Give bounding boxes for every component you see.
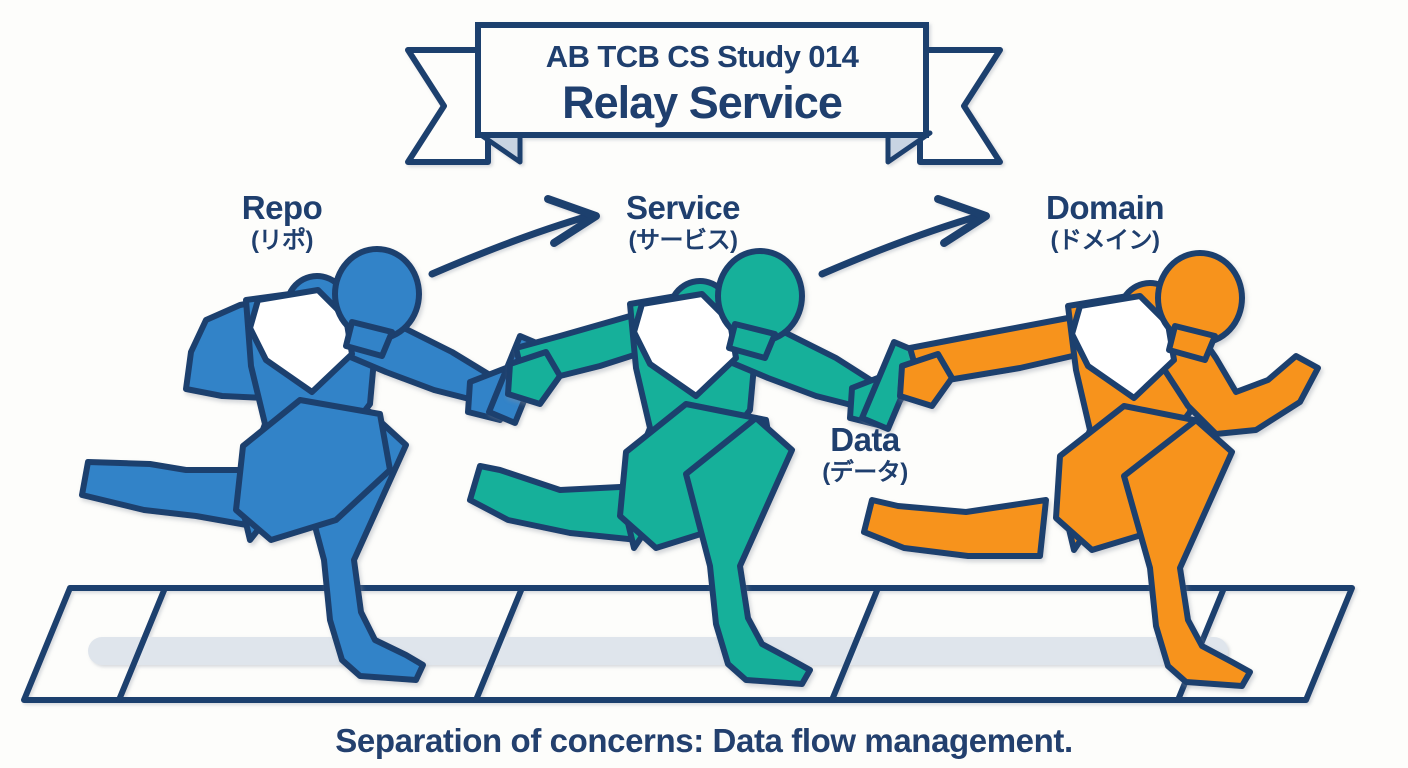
banner-subtitle: AB TCB CS Study 014 bbox=[478, 40, 926, 74]
label-service-jp: (サービス) bbox=[548, 226, 818, 256]
runner-repo-back-leg bbox=[82, 462, 258, 527]
runner-domain-back-leg bbox=[864, 500, 1046, 556]
label-service: Service (サービス) bbox=[548, 190, 818, 256]
runner-service-hand-rear bbox=[508, 352, 560, 404]
label-domain: Domain (ドメイン) bbox=[970, 190, 1240, 256]
label-data-jp: (データ) bbox=[755, 458, 975, 488]
label-data-en: Data bbox=[755, 422, 975, 458]
track-shadow-band bbox=[88, 637, 1228, 665]
runner-service-back-leg bbox=[470, 466, 640, 540]
label-repo-en: Repo bbox=[152, 190, 412, 226]
label-domain-jp: (ドメイン) bbox=[970, 226, 1240, 256]
label-domain-en: Domain bbox=[970, 190, 1240, 226]
diagram-canvas: AB TCB CS Study 014 Relay Service Repo (… bbox=[0, 0, 1408, 768]
label-repo-jp: (リポ) bbox=[152, 226, 412, 256]
label-repo: Repo (リポ) bbox=[152, 190, 412, 256]
arrow-service-to-domain bbox=[822, 199, 986, 274]
runner-repo bbox=[82, 249, 520, 680]
caption-text: Separation of concerns: Data flow manage… bbox=[0, 722, 1408, 760]
banner-title: Relay Service bbox=[478, 77, 926, 129]
runner-domain-hand bbox=[900, 354, 952, 406]
label-data: Data (データ) bbox=[755, 422, 975, 488]
ribbon-tail-right bbox=[920, 50, 1000, 162]
label-service-en: Service bbox=[548, 190, 818, 226]
